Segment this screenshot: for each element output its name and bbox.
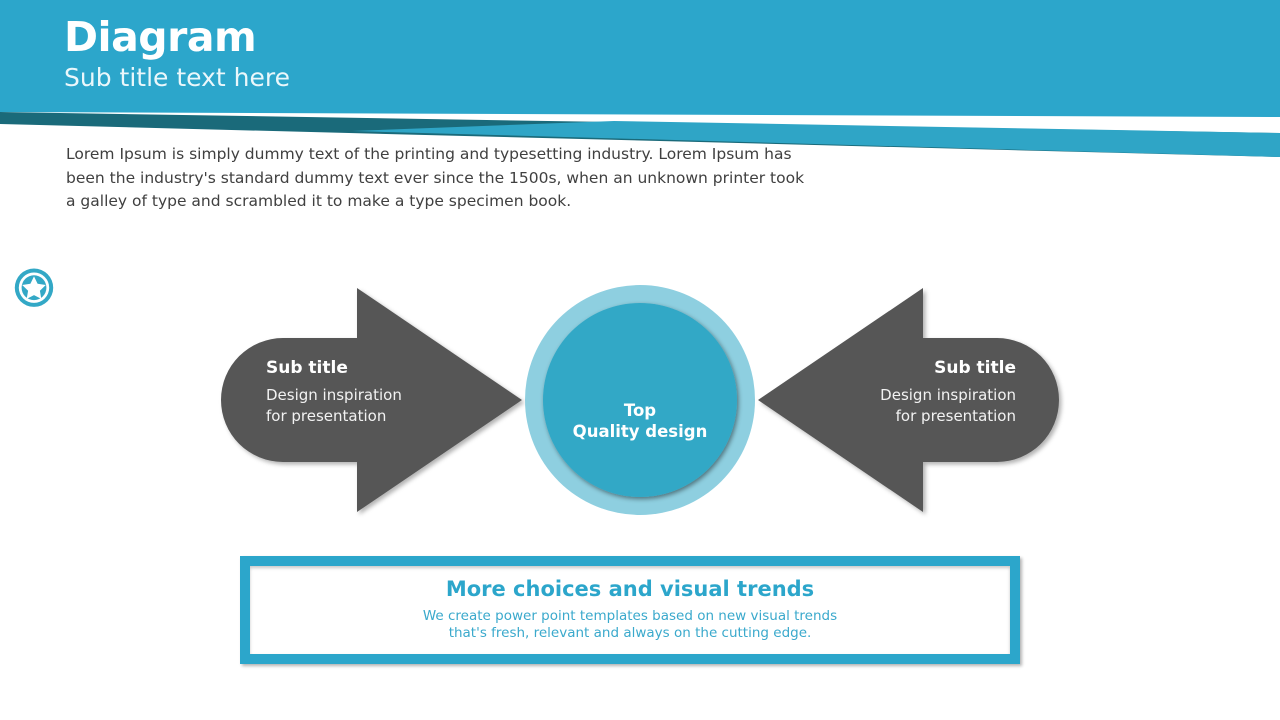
callout-body-line2: that's fresh, relevant and always on the… [449,625,812,641]
header-text-block: Diagram Sub title text here [64,14,290,94]
diagram-graphic [0,260,1280,530]
center-label: Top Quality design [545,400,735,442]
left-arrow-description-line2: for presentation [266,407,386,425]
left-arrow-description-line1: Design inspiration [266,386,402,404]
page-title: Diagram [64,14,290,60]
slide-header: Diagram Sub title text here [0,0,1280,160]
callout-title: More choices and visual trends [446,576,814,602]
page-subtitle: Sub title text here [64,62,290,94]
callout-body: We create power point templates based on… [423,608,837,641]
right-arrow-description-line2: for presentation [896,407,1016,425]
callout-inner: More choices and visual trends We create… [250,566,1010,654]
left-arrow-text-block: Sub title Design inspiration for present… [266,356,496,427]
left-arrow-description: Design inspiration for presentation [266,385,496,427]
award-badge-icon [0,260,68,332]
right-arrow-description-line1: Design inspiration [880,386,1016,404]
left-arrow-title: Sub title [266,356,496,380]
callout-body-line1: We create power point templates based on… [423,608,837,624]
center-label-line1: Top [624,401,656,420]
diagram-area: Sub title Design inspiration for present… [0,260,1280,530]
right-arrow-description: Design inspiration for presentation [786,385,1016,427]
right-arrow-text-block: Sub title Design inspiration for present… [786,356,1016,427]
center-label-line2: Quality design [573,422,708,441]
intro-paragraph: Lorem Ipsum is simply dummy text of the … [66,143,806,214]
callout-box: More choices and visual trends We create… [240,556,1020,664]
right-arrow-title: Sub title [786,356,1016,380]
